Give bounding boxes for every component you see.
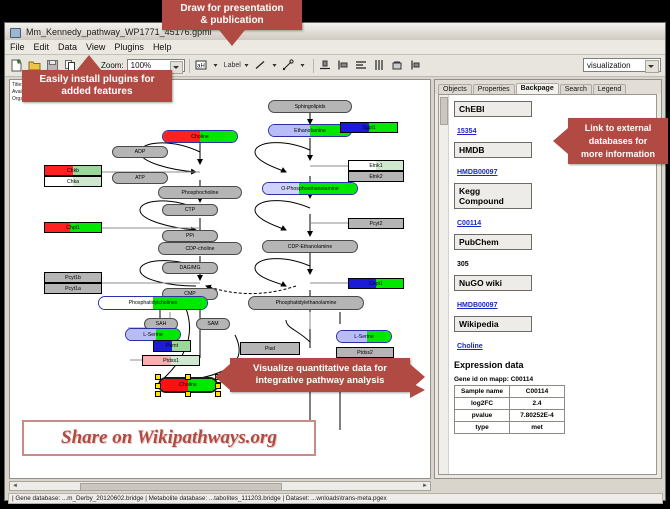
- callout-share: Share on Wikipathways.org: [22, 420, 316, 456]
- chevron-down-icon-2[interactable]: [243, 58, 250, 73]
- scroll-left-arrow[interactable]: ◄: [10, 482, 20, 490]
- text-align-icon[interactable]: aH: [194, 58, 209, 73]
- node-label: Pcyt1a: [65, 286, 81, 292]
- node-label: Pisd: [265, 346, 275, 352]
- link-chebi[interactable]: 15354: [457, 128, 476, 135]
- node-pcyt2[interactable]: Pcyt2: [348, 218, 404, 229]
- node-atp[interactable]: ATP: [112, 172, 168, 184]
- distribute-vertical-icon[interactable]: [354, 58, 369, 73]
- node-chka[interactable]: Chka: [44, 176, 102, 187]
- node-o-phosphoethanolamine[interactable]: O-Phosphoethanolamine: [262, 182, 358, 195]
- node-sam[interactable]: SAM: [196, 318, 230, 330]
- node-chpt1[interactable]: Chpt1: [44, 222, 102, 233]
- node-pisd[interactable]: Pisd: [240, 342, 300, 355]
- label-dropdown-label[interactable]: Label: [224, 62, 241, 69]
- node-label: CTP: [185, 207, 195, 213]
- selection-handle-n[interactable]: [185, 374, 191, 380]
- node-label: Choline: [179, 382, 197, 388]
- node-label: Pcyt1b: [65, 275, 81, 281]
- table-row: type met: [455, 422, 565, 434]
- callout-draw-arrow-icon: [219, 30, 245, 46]
- tab-backpage[interactable]: Backpage: [516, 83, 559, 94]
- node-ctp[interactable]: CTP: [162, 204, 218, 216]
- node-label: Ptdss2: [357, 350, 373, 356]
- callout-links-arrow-icon: [553, 128, 568, 154]
- node-phosphocholine[interactable]: Phosphocholine: [158, 186, 242, 199]
- title-bar: Mm_Kennedy_pathway_WP1771_45176.gpml: [5, 23, 665, 41]
- node-pcyt1b[interactable]: Pcyt1b: [44, 272, 102, 283]
- node-label: CMP: [184, 291, 196, 297]
- section-pubchem: PubChem: [454, 234, 532, 250]
- backpage-scrollbar[interactable]: [439, 95, 449, 474]
- chevron-down-icon-5[interactable]: [645, 60, 659, 73]
- zoom-value: 100%: [131, 61, 151, 70]
- link-hmdb[interactable]: HMDB00097: [457, 169, 497, 176]
- menu-item-help[interactable]: Help: [153, 42, 172, 52]
- callout-visualize-arrow-left-icon: [215, 364, 230, 390]
- status-text: | Gene database: ...m_Derby_20120602.bri…: [9, 495, 387, 502]
- canvas-hscrollbar[interactable]: ◄ ►: [9, 481, 431, 491]
- menu-item-edit[interactable]: Edit: [34, 42, 50, 52]
- node-label: ADP: [135, 149, 146, 155]
- pathway-canvas[interactable]: Title: Availa Organi: [9, 79, 431, 479]
- cell-label: log2FC: [455, 398, 510, 410]
- scrollbar-thumb[interactable]: [80, 483, 282, 491]
- node-cept1[interactable]: Cept1: [348, 278, 404, 289]
- node-label: Phosphocholine: [182, 190, 219, 196]
- section-kegg-compound: Kegg Compound: [454, 183, 532, 209]
- align-bottom-icon[interactable]: [318, 58, 333, 73]
- node-label: Phosphatidylethanolamine: [276, 300, 337, 306]
- node-label: Etnk1: [369, 163, 382, 169]
- selection-handle-se[interactable]: [215, 391, 221, 397]
- visualization-select[interactable]: visualization: [583, 58, 661, 72]
- tab-search[interactable]: Search: [560, 84, 592, 94]
- node-phosphatidylcholines[interactable]: Phosphatidylcholines: [98, 296, 208, 310]
- tab-properties[interactable]: Properties: [473, 84, 515, 94]
- cell-label: pvalue: [455, 410, 510, 422]
- node-ppi[interactable]: PPi: [162, 230, 218, 242]
- node-ptdss1[interactable]: Ptdss1: [142, 355, 200, 366]
- callout-visualize: Visualize quantitative data for integrat…: [230, 358, 410, 392]
- status-bar: | Gene database: ...m_Derby_20120602.bri…: [8, 493, 663, 504]
- dock-tab-strip: Objects Properties Backpage Search Legen…: [435, 80, 661, 94]
- cell-value: 2.4: [510, 398, 565, 410]
- menu-item-view[interactable]: View: [86, 42, 105, 52]
- node-adp[interactable]: ADP: [112, 146, 168, 158]
- value-pubchem: 305: [457, 261, 469, 268]
- section-wikipedia: Wikipedia: [454, 316, 532, 332]
- node-label: L-Serine: [143, 332, 163, 338]
- callout-draw-line2: & publication: [200, 15, 263, 27]
- gene-id-line: Gene id on mapp: C00114: [454, 376, 656, 383]
- expression-data-heading: Expression data: [454, 360, 656, 370]
- node-chkb[interactable]: Chkb: [44, 165, 102, 176]
- selection-handle-s[interactable]: [185, 391, 191, 397]
- callout-links-line1: Link to external: [585, 122, 652, 135]
- node-sphingolipids[interactable]: Sphingolipids: [268, 100, 352, 113]
- menu-item-file[interactable]: File: [10, 42, 25, 52]
- selection-handle-w[interactable]: [155, 383, 161, 389]
- callout-visualize-line2: integrative pathway analysis: [256, 375, 385, 387]
- node-label: Pcyt2: [370, 221, 383, 227]
- node-label: L-Serine: [354, 334, 374, 340]
- node-l-serine-right[interactable]: L-Serine: [336, 330, 392, 343]
- section-chebi: ChEBI: [454, 101, 532, 117]
- node-label: CDP-Ethanolamine: [288, 244, 332, 250]
- node-label: DAG/MG: [179, 265, 200, 271]
- order-icon[interactable]: [408, 58, 423, 73]
- scroll-right-arrow[interactable]: ►: [420, 482, 430, 490]
- align-left-icon[interactable]: [336, 58, 351, 73]
- table-row: log2FC 2.4: [455, 398, 565, 410]
- group-icon[interactable]: [390, 58, 405, 73]
- link-kegg[interactable]: C00114: [457, 220, 481, 227]
- scrollbar-thumb[interactable]: [440, 97, 448, 125]
- node-label: O-Phosphoethanolamine: [281, 186, 338, 192]
- distribute-horizontal-icon[interactable]: [372, 58, 387, 73]
- tab-objects[interactable]: Objects: [438, 84, 472, 94]
- section-nugo-wiki: NuGO wiki: [454, 275, 532, 291]
- link-nugo[interactable]: HMDB00097: [457, 302, 497, 309]
- chevron-down-icon-3[interactable]: [271, 58, 278, 73]
- callout-links: Link to external databases for more info…: [568, 118, 668, 164]
- node-label: Ptdss1: [163, 358, 179, 364]
- table-row: pvalue 7.80252E-4: [455, 410, 565, 422]
- node-label: SAH: [156, 321, 167, 327]
- node-label: Chpt1: [66, 225, 80, 231]
- menu-item-data[interactable]: Data: [58, 42, 77, 52]
- node-label: Choline: [191, 134, 209, 140]
- callout-plugins: Easily install plugins for added feature…: [22, 70, 172, 102]
- node-label: PPi: [186, 233, 194, 239]
- line-icon[interactable]: [253, 58, 268, 73]
- node-label: SAM: [207, 321, 218, 327]
- visualization-value: visualization: [587, 61, 631, 70]
- node-pcyt1a[interactable]: Pcyt1a: [44, 283, 102, 294]
- node-label: Chkb: [67, 168, 79, 174]
- node-sgpl1[interactable]: Sgpl1: [340, 122, 398, 133]
- node-choline-top[interactable]: Choline: [162, 130, 238, 143]
- expression-table: Sample name C00114 log2FC 2.4 pvalue 7.8…: [454, 385, 565, 434]
- node-label: Phosphatidylcholines: [129, 300, 178, 306]
- node-label: Sphingolipids: [295, 104, 326, 110]
- node-label: Sgpl1: [362, 125, 375, 131]
- cell-label: Sample name: [455, 386, 510, 398]
- callout-visualize-arrow-right2-icon: [410, 382, 425, 398]
- cell-value: met: [510, 422, 565, 434]
- table-row: Sample name C00114: [455, 386, 565, 398]
- node-label: Etnk2: [369, 174, 382, 180]
- node-cdp-choline[interactable]: CDP-choline: [158, 242, 242, 255]
- node-phosphatidylethanolamine[interactable]: Phosphatidylethanolamine: [248, 296, 364, 310]
- link-wikipedia[interactable]: Choline: [457, 343, 483, 350]
- callout-draw-line1: Draw for presentation: [180, 3, 283, 15]
- callout-share-text: Share on Wikipathways.org: [61, 427, 277, 449]
- node-cdp-ethanolamine[interactable]: CDP-Ethanolamine: [262, 240, 358, 253]
- tab-legend[interactable]: Legend: [593, 84, 626, 94]
- node-label: Pemt: [166, 343, 178, 349]
- callout-draw: Draw for presentation & publication: [162, 0, 302, 30]
- callout-links-line2: databases for: [589, 135, 648, 148]
- callout-visualize-line1: Visualize quantitative data for: [253, 363, 387, 375]
- node-label: CDP-choline: [185, 246, 214, 252]
- callout-links-line3: more information: [581, 148, 655, 161]
- callout-plugins-arrow-icon: [76, 55, 102, 71]
- chevron-down-icon-4[interactable]: [299, 58, 306, 73]
- cell-value: 7.80252E-4: [510, 410, 565, 422]
- node-pemt[interactable]: Pemt: [153, 340, 191, 352]
- node-label: Chka: [67, 179, 79, 185]
- node-etnk2[interactable]: Etnk2: [348, 171, 404, 182]
- section-hmdb: HMDB: [454, 142, 532, 158]
- callout-plugins-line2: added features: [61, 86, 132, 98]
- anchor-icon[interactable]: [281, 58, 296, 73]
- svg-text:aH: aH: [197, 64, 205, 70]
- menu-item-plugins[interactable]: Plugins: [114, 42, 144, 52]
- node-dagmg[interactable]: DAG/MG: [162, 262, 218, 274]
- selection-handle-nw[interactable]: [155, 374, 161, 380]
- chevron-down-icon-1[interactable]: [212, 58, 219, 73]
- menu-bar: File Edit Data View Plugins Help: [5, 40, 665, 55]
- callout-plugins-line1: Easily install plugins for: [39, 74, 154, 86]
- zoom-label: Zoom:: [101, 61, 124, 70]
- node-etnk1[interactable]: Etnk1: [348, 160, 404, 171]
- node-label: Ethanolamine: [294, 128, 326, 134]
- node-label: Cept1: [369, 281, 383, 287]
- toolbar-divider: [189, 59, 190, 73]
- pathway-canvas-inner: Title: Availa Organi: [10, 80, 430, 478]
- app-icon: [9, 26, 22, 38]
- node-ptdss2[interactable]: Ptdss2: [336, 347, 394, 358]
- cell-value: C00114: [510, 386, 565, 398]
- screenshot-root: Mm_Kennedy_pathway_WP1771_45176.gpml Fil…: [0, 0, 670, 509]
- selection-handle-sw[interactable]: [155, 391, 161, 397]
- toolbar-divider-2: [313, 59, 314, 73]
- cell-label: type: [455, 422, 510, 434]
- node-label: ATP: [135, 175, 145, 181]
